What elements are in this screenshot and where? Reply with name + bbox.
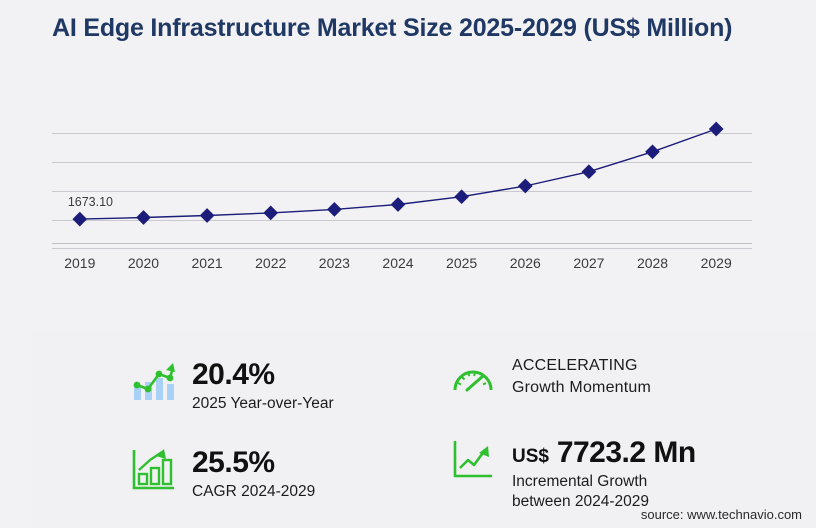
stat-card-yoy: 20.4% 2025 Year-over-Year <box>130 358 334 414</box>
data-point-2024 <box>391 197 406 212</box>
stat-text: ACCELERATING Growth Momentum <box>512 354 651 398</box>
x-tick-2028: 2028 <box>623 255 683 271</box>
data-point-2027 <box>582 164 597 179</box>
stat-text: 20.4% 2025 Year-over-Year <box>192 358 334 414</box>
data-point-2029 <box>709 122 724 137</box>
x-tick-2026: 2026 <box>495 255 555 271</box>
stat-caption: Growth Momentum <box>512 377 651 399</box>
stat-caption-line1: Incremental Growth <box>512 472 696 492</box>
x-tick-2027: 2027 <box>559 255 619 271</box>
data-point-2028 <box>645 144 660 159</box>
data-point-2019 <box>72 212 87 227</box>
bar-chart-arrow-icon <box>130 446 176 492</box>
data-point-2026 <box>518 179 533 194</box>
speedometer-icon <box>450 354 496 400</box>
line-growth-icon <box>450 436 496 482</box>
x-tick-2019: 2019 <box>50 255 110 271</box>
stat-value: 20.4% <box>192 359 334 391</box>
x-tick-2023: 2023 <box>304 255 364 271</box>
x-tick-2021: 2021 <box>177 255 237 271</box>
bar-chart-trend-icon <box>130 358 176 404</box>
stat-card-cagr: 25.5% CAGR 2024-2029 <box>130 446 315 502</box>
data-point-2021 <box>200 208 215 223</box>
stat-amount: 7723.2 Mn <box>557 436 696 469</box>
stat-card-incremental: US$ 7723.2 Mn Incremental Growth between… <box>450 436 696 512</box>
stat-caption: CAGR 2024-2029 <box>192 482 315 502</box>
stat-caption: 2025 Year-over-Year <box>192 394 334 414</box>
x-tick-2029: 2029 <box>686 255 746 271</box>
data-point-2023 <box>327 202 342 217</box>
data-point-2025 <box>454 189 469 204</box>
stat-text: 25.5% CAGR 2024-2029 <box>192 446 315 502</box>
stats-panel: 20.4% 2025 Year-over-Year 25.5% CAGR 202… <box>32 330 816 528</box>
x-tick-2024: 2024 <box>368 255 428 271</box>
source-note: source: www.technavio.com <box>641 507 802 522</box>
stat-unit: US$ <box>512 446 549 467</box>
stat-value: US$ 7723.2 Mn <box>512 437 696 469</box>
first-point-value-label: 1673.10 <box>68 195 113 209</box>
stat-card-momentum: ACCELERATING Growth Momentum <box>450 354 651 400</box>
stat-value: 25.5% <box>192 447 315 479</box>
data-point-2020 <box>136 210 151 225</box>
stat-text: US$ 7723.2 Mn Incremental Growth between… <box>512 436 696 512</box>
series-markers <box>72 122 723 227</box>
x-tick-2022: 2022 <box>241 255 301 271</box>
stat-headline: ACCELERATING <box>512 355 651 377</box>
line-series <box>0 0 816 290</box>
infographic-page: AI Edge Infrastructure Market Size 2025-… <box>0 0 816 528</box>
x-tick-2025: 2025 <box>432 255 492 271</box>
x-tick-2020: 2020 <box>113 255 173 271</box>
data-point-2022 <box>263 206 278 221</box>
